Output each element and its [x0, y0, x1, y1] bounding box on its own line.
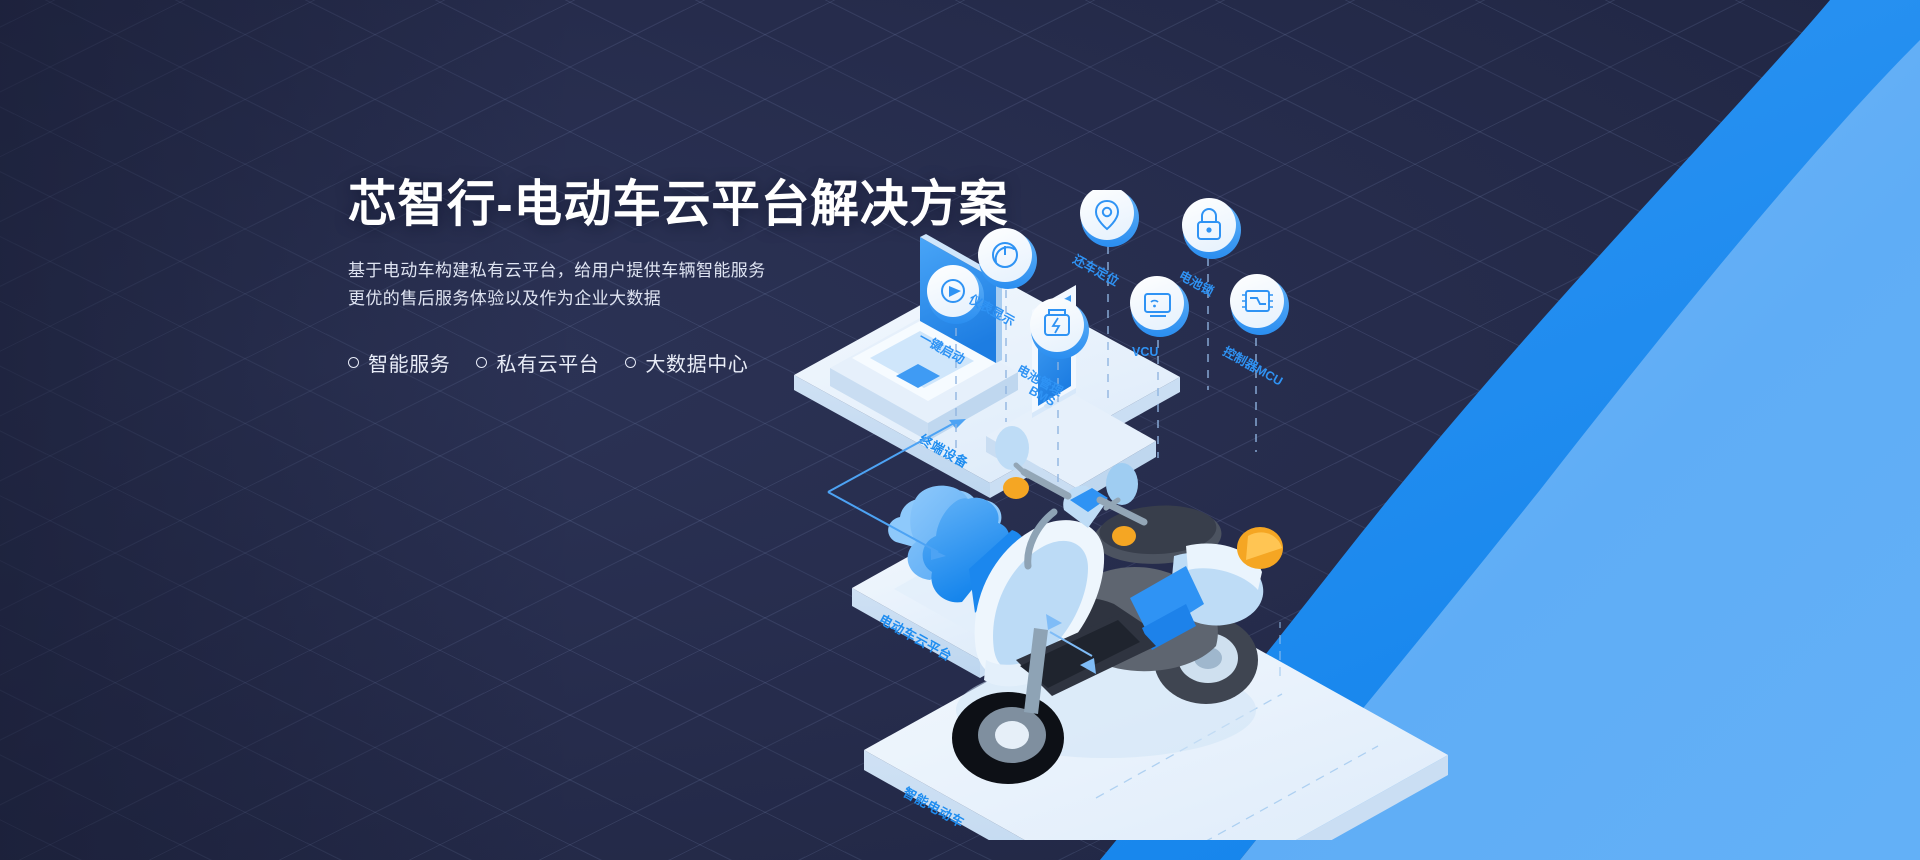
- isometric-illustration: 终端设备 电动车云平台: [760, 190, 1920, 840]
- hero-banner: 芯智行-电动车云平台解决方案 基于电动车构建私有云平台，给用户提供车辆智能服务 …: [0, 0, 1920, 860]
- feature-label: 大数据中心: [645, 348, 748, 377]
- circle-outline-icon: [348, 357, 359, 368]
- feature-item-private-cloud: 私有云平台: [476, 348, 599, 377]
- node-label: 控制器MCU: [1221, 344, 1286, 389]
- node-vcu[interactable]: VCU: [1130, 276, 1189, 359]
- feature-item-big-data: 大数据中心: [625, 348, 748, 377]
- subtitle-line-1: 基于电动车构建私有云平台，给用户提供车辆智能服务: [348, 261, 766, 280]
- feature-label: 私有云平台: [496, 348, 599, 377]
- circle-outline-icon: [625, 357, 636, 368]
- feature-item-smart-service: 智能服务: [348, 348, 450, 377]
- circle-outline-icon: [476, 357, 487, 368]
- node-controller-mcu[interactable]: 控制器MCU: [1221, 274, 1289, 389]
- subtitle-line-2: 更优的售后服务体验以及作为企业大数据: [348, 289, 661, 308]
- node-return-location[interactable]: 还车定位: [1070, 190, 1139, 289]
- node-battery-lock[interactable]: 电池锁: [1177, 198, 1241, 299]
- feature-label: 智能服务: [368, 348, 450, 377]
- node-label: 还车定位: [1070, 251, 1122, 289]
- node-label: VCU: [1132, 345, 1158, 359]
